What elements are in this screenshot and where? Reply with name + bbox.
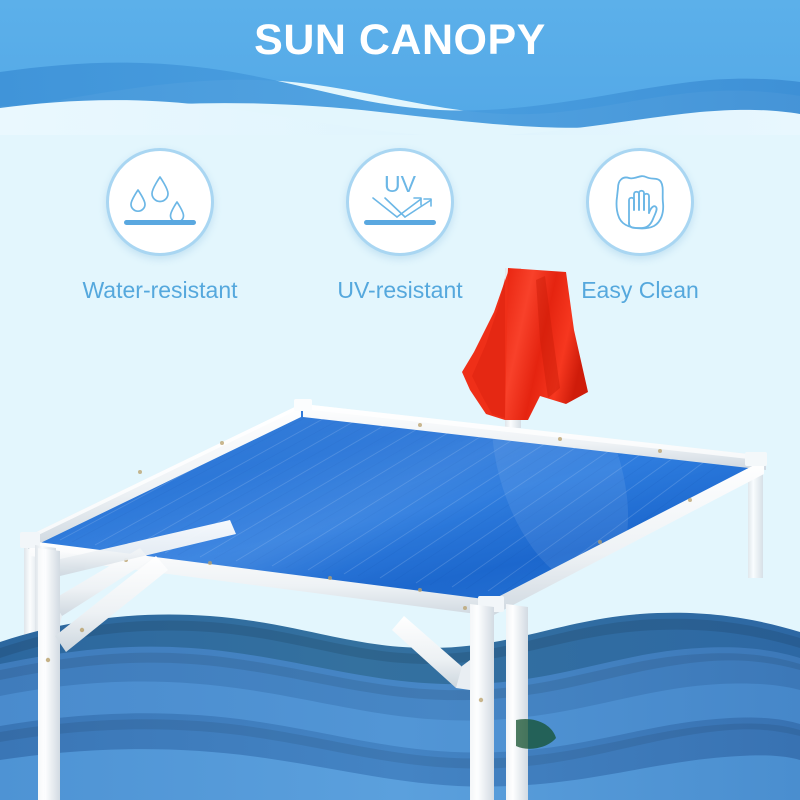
- uv-rays-icon: UV: [361, 167, 439, 237]
- submerged-object: [516, 719, 556, 749]
- center-front-post: [470, 604, 494, 800]
- feature-icon-circle: UV: [346, 148, 454, 256]
- feature-list: Water-resistant UV UV-res: [60, 148, 740, 328]
- product-stage: [0, 0, 800, 800]
- right-front-post: [506, 604, 528, 800]
- left-diagonal-brace: [55, 556, 168, 652]
- surface-bar: [124, 220, 196, 225]
- center-diagonal-brace: [392, 616, 470, 690]
- feature-label: Easy Clean: [581, 277, 699, 303]
- uv-icon-text: UV: [384, 171, 417, 197]
- poster-canvas: SUN CANOPY Water-resistant: [0, 0, 800, 800]
- feature-water-resistant: Water-resistant: [60, 148, 260, 328]
- page-title: SUN CANOPY: [0, 14, 800, 66]
- left-front-post: [38, 548, 60, 800]
- feature-icon-circle: [106, 148, 214, 256]
- feature-label: Water-resistant: [82, 277, 237, 303]
- hand-wipe-cloth-icon: [604, 166, 676, 238]
- feature-uv-resistant: UV UV-resistant: [300, 148, 500, 328]
- canopy-front-posts: [0, 0, 800, 800]
- feature-easy-clean: Easy Clean: [540, 148, 740, 328]
- surface-bar: [364, 220, 436, 225]
- feature-icon-circle: [586, 148, 694, 256]
- water-drops-icon: [121, 167, 199, 237]
- feature-label: UV-resistant: [337, 277, 462, 303]
